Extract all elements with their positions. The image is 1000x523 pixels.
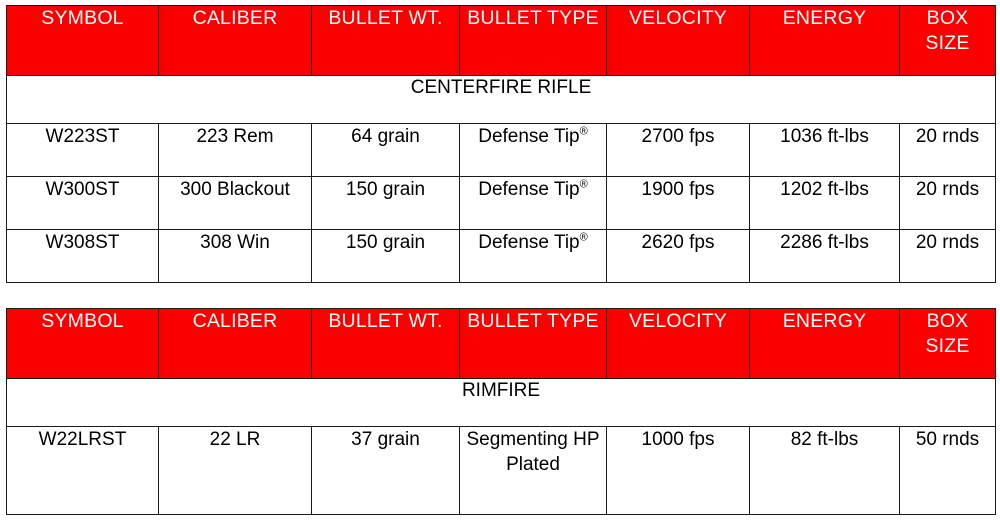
- cell-symbol: W300ST: [7, 177, 159, 230]
- section-label: CENTERFIRE RIFLE: [7, 76, 996, 124]
- cell-energy: 2286 ft-lbs: [750, 230, 900, 283]
- cell-bullet-type-text: Defense Tip: [478, 126, 579, 147]
- cell-bullet-type: Defense Tip®: [460, 124, 607, 177]
- column-header-caliber: CALIBER: [159, 6, 312, 76]
- cell-caliber: 223 Rem: [159, 124, 312, 177]
- cell-energy: 82 ft-lbs: [750, 427, 900, 515]
- ammunition-spec-sheet: SYMBOL CALIBER BULLET WT. BULLET TYPE VE…: [0, 0, 1000, 523]
- cell-box-size: 50 rnds: [900, 427, 996, 515]
- cell-velocity: 2700 fps: [607, 124, 750, 177]
- column-header-bullet-type: BULLET TYPE: [460, 6, 607, 76]
- cell-symbol: W223ST: [7, 124, 159, 177]
- cell-caliber: 22 LR: [159, 427, 312, 515]
- cell-caliber: 308 Win: [159, 230, 312, 283]
- table-row: W308ST 308 Win 150 grain Defense Tip® 26…: [7, 230, 996, 283]
- column-header-box-size: BOX SIZE: [900, 6, 996, 76]
- column-header-box-size-line2: SIZE: [925, 32, 969, 54]
- column-header-energy: ENERGY: [750, 309, 900, 379]
- cell-bullet-type-text: Defense Tip: [478, 232, 579, 253]
- column-header-box-size-line1: BOX: [927, 310, 969, 332]
- column-header-bullet-type: BULLET TYPE: [460, 309, 607, 379]
- cell-symbol: W308ST: [7, 230, 159, 283]
- cell-velocity: 2620 fps: [607, 230, 750, 283]
- cell-bullet-type-text: Defense Tip: [478, 179, 579, 200]
- registered-trademark-icon: ®: [580, 179, 588, 191]
- table-header-row: SYMBOL CALIBER BULLET WT. BULLET TYPE VE…: [7, 6, 996, 76]
- cell-box-size: 20 rnds: [900, 177, 996, 230]
- column-header-velocity: VELOCITY: [607, 6, 750, 76]
- column-header-symbol: SYMBOL: [7, 6, 159, 76]
- registered-trademark-icon: ®: [580, 232, 588, 244]
- cell-energy: 1202 ft-lbs: [750, 177, 900, 230]
- cell-energy: 1036 ft-lbs: [750, 124, 900, 177]
- centerfire-rifle-table: SYMBOL CALIBER BULLET WT. BULLET TYPE VE…: [6, 5, 996, 283]
- column-header-caliber: CALIBER: [159, 309, 312, 379]
- column-header-velocity: VELOCITY: [607, 309, 750, 379]
- column-header-energy: ENERGY: [750, 6, 900, 76]
- column-header-box-size-line1: BOX: [927, 7, 969, 29]
- cell-symbol: W22LRST: [7, 427, 159, 515]
- cell-bullet-wt: 150 grain: [312, 177, 460, 230]
- cell-caliber: 300 Blackout: [159, 177, 312, 230]
- section-band-centerfire-rifle: CENTERFIRE RIFLE: [7, 76, 996, 124]
- table-row: W223ST 223 Rem 64 grain Defense Tip® 270…: [7, 124, 996, 177]
- table-separator: [6, 283, 995, 308]
- cell-bullet-type: Segmenting HP Plated: [460, 427, 607, 515]
- cell-box-size: 20 rnds: [900, 230, 996, 283]
- cell-velocity: 1900 fps: [607, 177, 750, 230]
- cell-bullet-wt: 150 grain: [312, 230, 460, 283]
- column-header-box-size: BOX SIZE: [900, 309, 996, 379]
- column-header-box-size-line2: SIZE: [925, 335, 969, 357]
- registered-trademark-icon: ®: [580, 126, 588, 138]
- cell-box-size: 20 rnds: [900, 124, 996, 177]
- section-label: RIMFIRE: [7, 379, 996, 427]
- table-row: W300ST 300 Blackout 150 grain Defense Ti…: [7, 177, 996, 230]
- cell-bullet-wt: 64 grain: [312, 124, 460, 177]
- cell-velocity: 1000 fps: [607, 427, 750, 515]
- column-header-symbol: SYMBOL: [7, 309, 159, 379]
- column-header-bullet-wt: BULLET WT.: [312, 6, 460, 76]
- table-row: W22LRST 22 LR 37 grain Segmenting HP Pla…: [7, 427, 996, 515]
- cell-bullet-type: Defense Tip®: [460, 230, 607, 283]
- table-header-row: SYMBOL CALIBER BULLET WT. BULLET TYPE VE…: [7, 309, 996, 379]
- cell-bullet-type: Defense Tip®: [460, 177, 607, 230]
- column-header-bullet-wt: BULLET WT.: [312, 309, 460, 379]
- cell-bullet-wt: 37 grain: [312, 427, 460, 515]
- rimfire-table: SYMBOL CALIBER BULLET WT. BULLET TYPE VE…: [6, 308, 996, 515]
- section-band-rimfire: RIMFIRE: [7, 379, 996, 427]
